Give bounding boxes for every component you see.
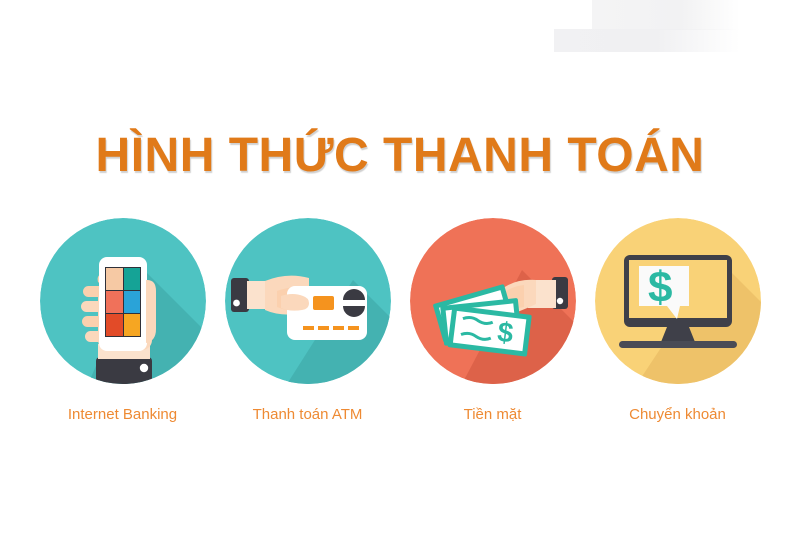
- svg-text:$: $: [648, 263, 672, 312]
- payment-method-bank-transfer[interactable]: $ Chuyển khoản: [585, 218, 770, 423]
- watermark-block-lower: [554, 29, 740, 52]
- payment-method-internet-banking[interactable]: Internet Banking: [30, 218, 215, 423]
- payment-method-label: Chuyển khoản: [629, 406, 726, 423]
- monitor-dollar-speech-bubble-icon: $: [595, 218, 761, 384]
- hand-holding-smartphone-icon: [40, 218, 206, 384]
- payment-methods-row: Internet Banking: [0, 218, 800, 423]
- payment-method-label: Tiền mặt: [464, 406, 522, 423]
- page-title: HÌNH THỨC THANH TOÁN: [0, 128, 800, 183]
- cash-circle: $: [410, 218, 576, 384]
- hand-holding-banknotes-icon: $: [410, 218, 576, 384]
- watermark-block-upper: [592, 0, 740, 30]
- bank-transfer-circle: $: [595, 218, 761, 384]
- payment-method-label: Thanh toán ATM: [253, 406, 363, 423]
- payment-method-label: Internet Banking: [68, 406, 177, 423]
- payment-method-cash[interactable]: $ Tiền mặt: [400, 218, 585, 423]
- payment-method-atm[interactable]: Thanh toán ATM: [215, 218, 400, 423]
- atm-circle: [225, 218, 391, 384]
- hand-holding-credit-card-icon: [225, 218, 391, 384]
- internet-banking-circle: [40, 218, 206, 384]
- watermark-artifact: [522, 0, 767, 52]
